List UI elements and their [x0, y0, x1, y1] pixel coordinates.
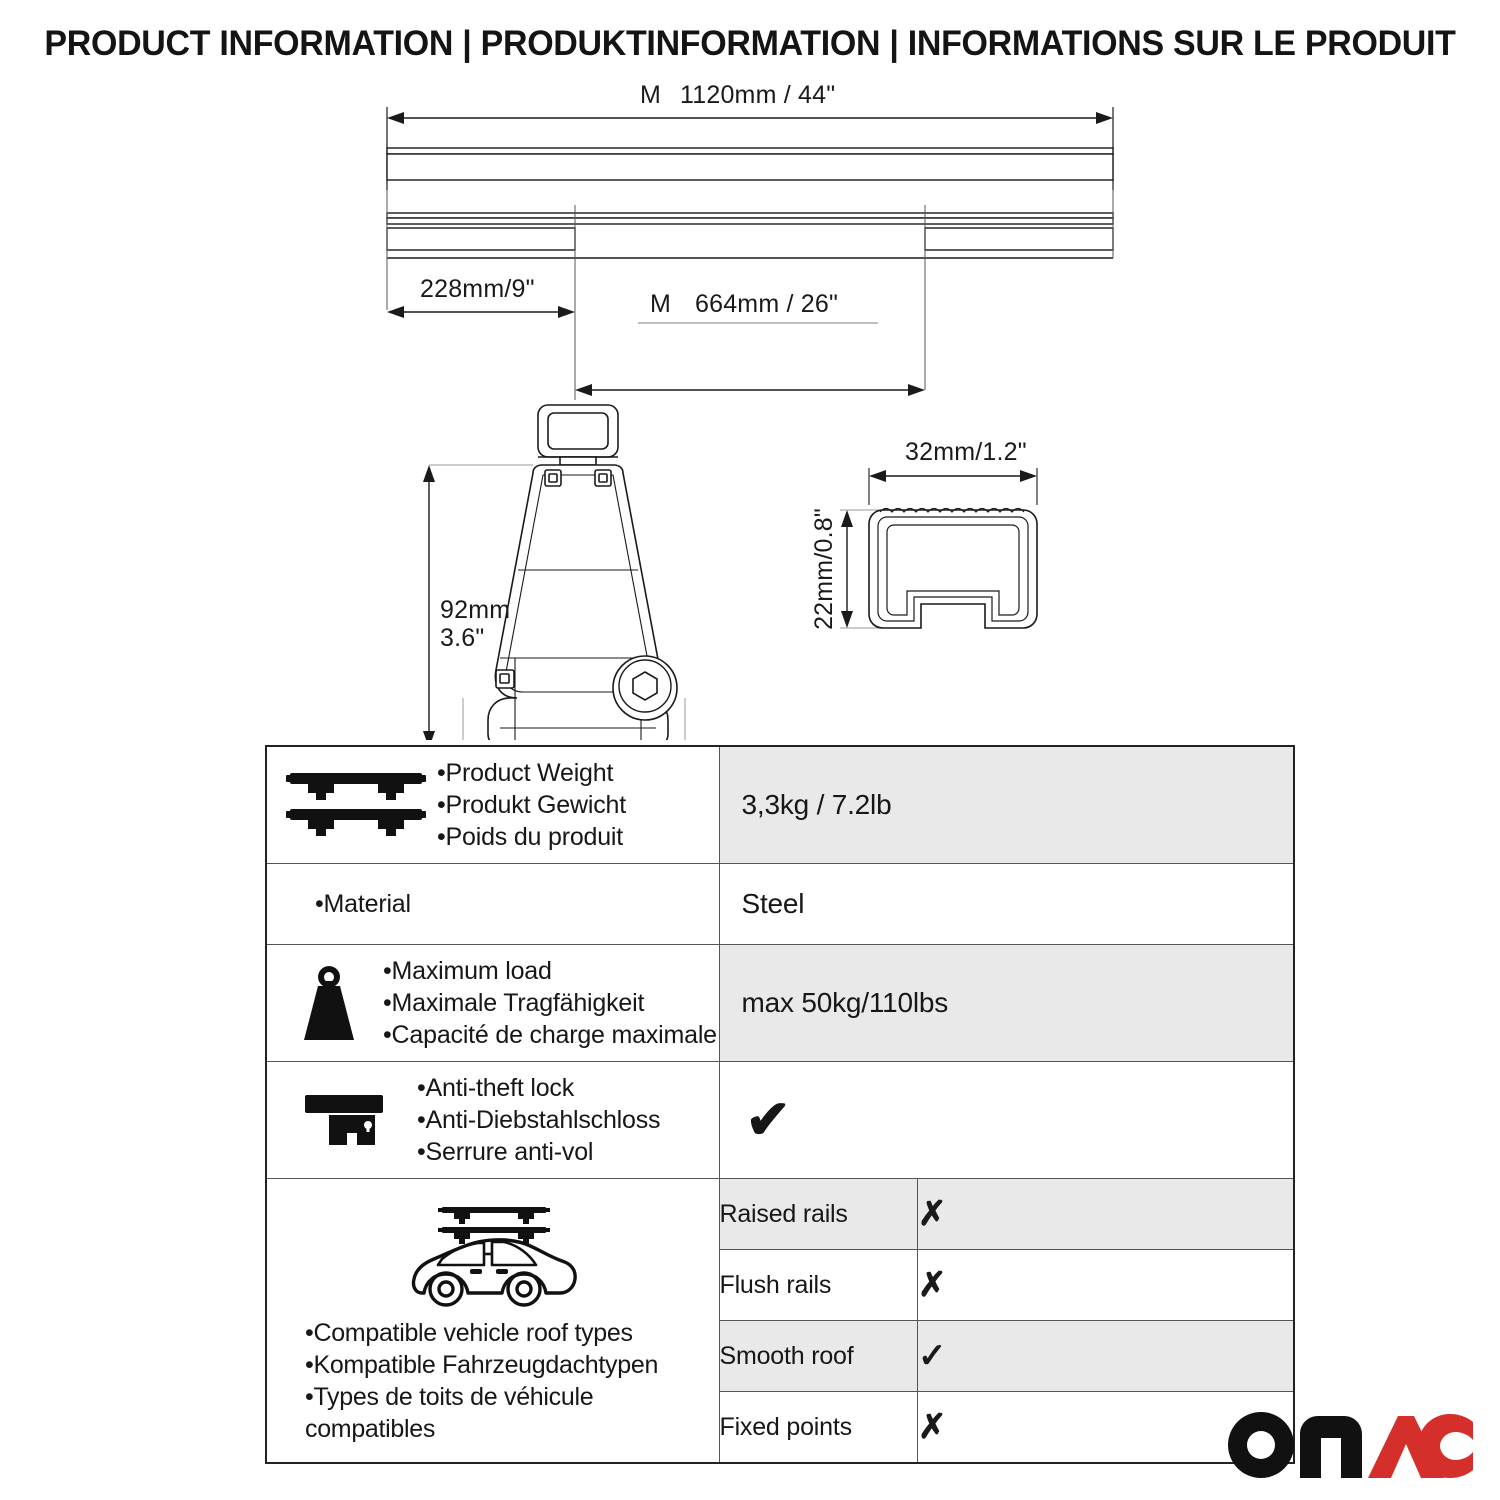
roof-types-table: Raised rails ✗ Flush rails ✗ [720, 1179, 1294, 1462]
car-with-rack-icon [267, 1197, 719, 1317]
max-load-value-cell: max 50kg/110lbs [719, 945, 1294, 1062]
max-load-label-cell: •Maximum load •Maximale Tragfähigkeit •C… [266, 945, 719, 1062]
table-row-weight: •Product Weight •Produkt Gewicht •Poids … [266, 746, 1294, 864]
bar-length-marker: M [640, 81, 661, 109]
roof-type-mark-smooth: ✓ [918, 1321, 1294, 1392]
compat-label-de: •Kompatible Fahrzeugdachtypen [305, 1349, 719, 1381]
end-offset-value: 228mm/9" [420, 275, 535, 303]
weight-icon [281, 962, 377, 1044]
anti-theft-check-mark: ✔ [746, 1093, 791, 1147]
compat-label-cell: •Compatible vehicle roof types •Kompatib… [266, 1179, 719, 1464]
compat-label-en: •Compatible vehicle roof types [305, 1317, 719, 1349]
roof-type-name-raised: Raised rails [720, 1179, 918, 1250]
anti-theft-labels: •Anti-theft lock •Anti-Diebstahlschloss … [417, 1072, 660, 1168]
crossbar-bottom-view [387, 213, 1113, 258]
table-row-max-load: •Maximum load •Maximale Tragfähigkeit •C… [266, 945, 1294, 1062]
weight-label-de: •Produkt Gewicht [437, 789, 626, 821]
roof-types-cell: Raised rails ✗ Flush rails ✗ [719, 1179, 1294, 1464]
spread-value: 664mm / 26" [695, 290, 838, 318]
foot-height-line1: 92mm [440, 596, 510, 624]
omac-logo-svg [1228, 1412, 1473, 1478]
weight-value-cell: 3,3kg / 7.2lb [719, 746, 1294, 864]
roof-type-name-fixed: Fixed points [720, 1392, 918, 1463]
roof-type-row-flush: Flush rails ✗ [720, 1250, 1294, 1321]
anti-theft-label-cell: •Anti-theft lock •Anti-Diebstahlschloss … [266, 1062, 719, 1179]
anti-theft-label-de: •Anti-Diebstahlschloss [417, 1104, 660, 1136]
page-title: PRODUCT INFORMATION | PRODUKTINFORMATION… [23, 24, 1478, 64]
max-load-labels: •Maximum load •Maximale Tragfähigkeit •C… [383, 955, 717, 1051]
bar-cross-section [869, 509, 1037, 629]
roof-type-row-raised: Raised rails ✗ [720, 1179, 1294, 1250]
logo-letter-o [1228, 1412, 1294, 1478]
logo-letter-m [1300, 1416, 1362, 1478]
weight-value: 3,3kg / 7.2lb [720, 775, 1294, 835]
roof-type-mark-raised: ✗ [918, 1179, 1294, 1250]
roof-type-row-smooth: Smooth roof ✓ [720, 1321, 1294, 1392]
omac-logo [1228, 1412, 1473, 1478]
technical-drawings: M 1120mm / 44" 228mm/9" [0, 80, 1500, 740]
foot-front-view [488, 405, 677, 740]
material-label-cell: •Material [266, 864, 719, 945]
drawings-svg: M 1120mm / 44" 228mm/9" [0, 80, 1500, 740]
cross-icon: ✗ [918, 1266, 947, 1304]
weight-label-cell: •Product Weight •Produkt Gewicht •Poids … [266, 746, 719, 864]
check-icon: ✓ [918, 1337, 947, 1375]
roof-type-row-fixed: Fixed points ✗ [720, 1392, 1294, 1463]
profile-width-value: 32mm/1.2" [905, 438, 1027, 466]
material-labels: •Material [281, 888, 411, 920]
foot-height-line2: 3.6" [440, 624, 484, 652]
material-value: Steel [720, 874, 1294, 934]
max-load-label-fr: •Capacité de charge maximale [383, 1019, 717, 1051]
weight-label-fr: •Poids du produit [437, 821, 626, 853]
page-header: PRODUCT INFORMATION | PRODUKTINFORMATION… [0, 24, 1500, 64]
roof-type-name-smooth: Smooth roof [720, 1321, 918, 1392]
compat-labels: •Compatible vehicle roof types •Kompatib… [267, 1317, 719, 1445]
crossbars-icon [281, 767, 431, 843]
table-row-compat: •Compatible vehicle roof types •Kompatib… [266, 1179, 1294, 1464]
roof-type-name-flush: Flush rails [720, 1250, 918, 1321]
end-offset-dimension [387, 306, 575, 318]
roof-type-mark-flush: ✗ [918, 1250, 1294, 1321]
compat-label-fr: •Types de toits de véhicule [305, 1381, 719, 1413]
material-value-cell: Steel [719, 864, 1294, 945]
cross-icon: ✗ [918, 1195, 947, 1233]
cross-icon: ✗ [918, 1408, 947, 1446]
crossbar-top-view [387, 148, 1113, 180]
specification-table: •Product Weight •Produkt Gewicht •Poids … [265, 745, 1295, 1464]
table-row-anti-theft: •Anti-theft lock •Anti-Diebstahlschloss … [266, 1062, 1294, 1179]
anti-theft-label-fr: •Serrure anti-vol [417, 1136, 660, 1168]
max-load-label-de: •Maximale Tragfähigkeit [383, 987, 717, 1019]
weight-labels: •Product Weight •Produkt Gewicht •Poids … [437, 757, 626, 853]
spread-dimension [575, 384, 925, 396]
max-load-value: max 50kg/110lbs [720, 973, 1294, 1033]
max-load-label-en: •Maximum load [383, 955, 717, 987]
profile-height-value: 22mm/0.8" [810, 508, 838, 630]
material-label-en: •Material [315, 888, 411, 920]
compat-label-fr-cont: compatibles [305, 1413, 719, 1445]
table-row-material: •Material Steel [266, 864, 1294, 945]
lock-icon [281, 1089, 411, 1151]
bar-length-value: 1120mm / 44" [680, 81, 835, 109]
weight-label-en: •Product Weight [437, 757, 626, 789]
profile-width-dimension [869, 468, 1037, 505]
anti-theft-value-cell: ✔ [719, 1062, 1294, 1179]
anti-theft-label-en: •Anti-theft lock [417, 1072, 660, 1104]
spread-marker: M [650, 290, 671, 318]
